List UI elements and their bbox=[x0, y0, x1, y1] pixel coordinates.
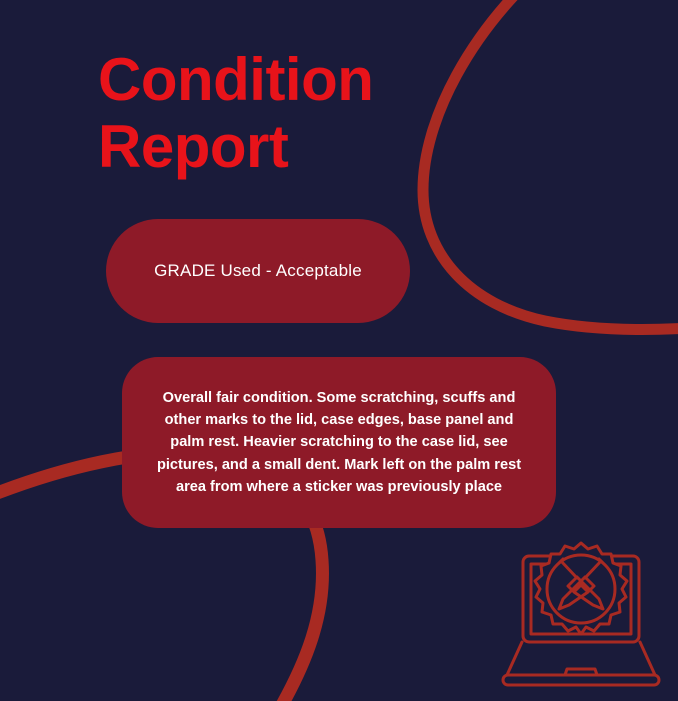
page-title-line-2: Report bbox=[98, 113, 428, 180]
condition-description-text: Overall fair condition. Some scratching,… bbox=[148, 387, 530, 498]
grade-badge-label: GRADE Used - Acceptable bbox=[154, 261, 362, 281]
page-title: Condition Report bbox=[98, 46, 428, 180]
page-title-line-1: Condition bbox=[98, 46, 428, 113]
laptop-repair-icon bbox=[501, 541, 661, 693]
condition-description-card: Overall fair condition. Some scratching,… bbox=[122, 357, 556, 528]
top-right-arc bbox=[423, 0, 678, 330]
condition-report-poster: Condition Report GRADE Used - Acceptable… bbox=[0, 0, 678, 701]
grade-badge: GRADE Used - Acceptable bbox=[106, 219, 410, 323]
laptop-base-front bbox=[503, 675, 659, 685]
